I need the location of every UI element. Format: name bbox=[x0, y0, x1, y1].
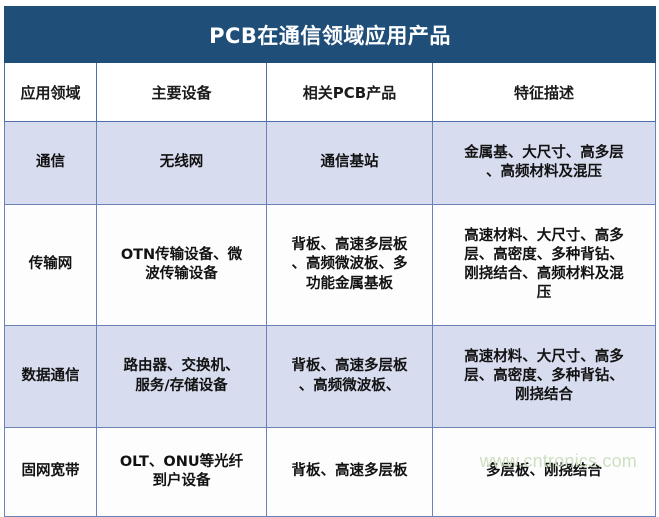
column-header-related-pcb-product: 相关PCB产品 bbox=[267, 63, 433, 122]
table-title-row: PCB在通信领域应用产品 bbox=[5, 7, 656, 63]
cell-feature-description: 高速材料、大尺寸、高多 层、高密度、多种背钻、 刚挠结合、高频材料及混 压 bbox=[433, 205, 656, 326]
cell-related-pcb-product: 背板、高速多层板 、高频微波板、多 功能金属基板 bbox=[267, 205, 433, 326]
table-row: 固网宽带 OLT、ONU等光纤 到户设备 背板、高速多层板 多层板、刚挠结合 bbox=[5, 428, 656, 517]
cell-text: 金属基、大尺寸、高多层 、高频材料及混压 bbox=[438, 144, 650, 182]
cell-text: 传输网 bbox=[10, 255, 91, 274]
cell-text: 背板、高速多层板 bbox=[272, 462, 427, 481]
cell-text: 背板、高速多层板 、高频微波板、 bbox=[272, 357, 427, 395]
cell-related-pcb-product: 背板、高速多层板 bbox=[267, 428, 433, 517]
column-header-main-equipment: 主要设备 bbox=[97, 63, 267, 122]
cell-text: OTN传输设备、微 波传输设备 bbox=[102, 246, 261, 284]
table-container: PCB在通信领域应用产品 应用领域 主要设备 相关PCB产品 特征描述 通信 无… bbox=[4, 6, 655, 484]
cell-feature-description: 多层板、刚挠结合 bbox=[433, 428, 656, 517]
cell-text: 背板、高速多层板 、高频微波板、多 功能金属基板 bbox=[272, 236, 427, 293]
cell-text: 路由器、交换机、 服务/存储设备 bbox=[102, 357, 261, 395]
cell-text: 高速材料、大尺寸、高多 层、高密度、多种背钻、 刚挠结合、高频材料及混 压 bbox=[438, 227, 650, 304]
cell-main-equipment: 路由器、交换机、 服务/存储设备 bbox=[97, 326, 267, 428]
cell-feature-description: 高速材料、大尺寸、高多 层、高密度、多种背钻、 刚挠结合 bbox=[433, 326, 656, 428]
page-root: PCB在通信领域应用产品 应用领域 主要设备 相关PCB产品 特征描述 通信 无… bbox=[0, 0, 659, 490]
cell-main-equipment: OTN传输设备、微 波传输设备 bbox=[97, 205, 267, 326]
cell-related-pcb-product: 通信基站 bbox=[267, 122, 433, 205]
cell-text: 固网宽带 bbox=[10, 462, 91, 481]
table-row: 数据通信 路由器、交换机、 服务/存储设备 背板、高速多层板 、高频微波板、 高… bbox=[5, 326, 656, 428]
table-title: PCB在通信领域应用产品 bbox=[5, 7, 656, 63]
cell-application-field: 固网宽带 bbox=[5, 428, 97, 517]
cell-text: 数据通信 bbox=[10, 367, 91, 386]
table-row: 通信 无线网 通信基站 金属基、大尺寸、高多层 、高频材料及混压 bbox=[5, 122, 656, 205]
table-row: 传输网 OTN传输设备、微 波传输设备 背板、高速多层板 、高频微波板、多 功能… bbox=[5, 205, 656, 326]
cell-main-equipment: OLT、ONU等光纤 到户设备 bbox=[97, 428, 267, 517]
cell-text: 通信基站 bbox=[272, 153, 427, 172]
cell-application-field: 传输网 bbox=[5, 205, 97, 326]
cell-main-equipment: 无线网 bbox=[97, 122, 267, 205]
cell-feature-description: 金属基、大尺寸、高多层 、高频材料及混压 bbox=[433, 122, 656, 205]
cell-related-pcb-product: 背板、高速多层板 、高频微波板、 bbox=[267, 326, 433, 428]
cell-text: OLT、ONU等光纤 到户设备 bbox=[102, 453, 261, 491]
cell-application-field: 通信 bbox=[5, 122, 97, 205]
cell-text: 多层板、刚挠结合 bbox=[438, 462, 650, 481]
pcb-application-table: PCB在通信领域应用产品 应用领域 主要设备 相关PCB产品 特征描述 通信 无… bbox=[4, 6, 656, 517]
cell-text: 无线网 bbox=[102, 153, 261, 172]
column-header-feature-description: 特征描述 bbox=[433, 63, 656, 122]
cell-text: 通信 bbox=[10, 153, 91, 172]
cell-text: 高速材料、大尺寸、高多 层、高密度、多种背钻、 刚挠结合 bbox=[438, 348, 650, 405]
cell-application-field: 数据通信 bbox=[5, 326, 97, 428]
column-header-application-field: 应用领域 bbox=[5, 63, 97, 122]
table-header-row: 应用领域 主要设备 相关PCB产品 特征描述 bbox=[5, 63, 656, 122]
